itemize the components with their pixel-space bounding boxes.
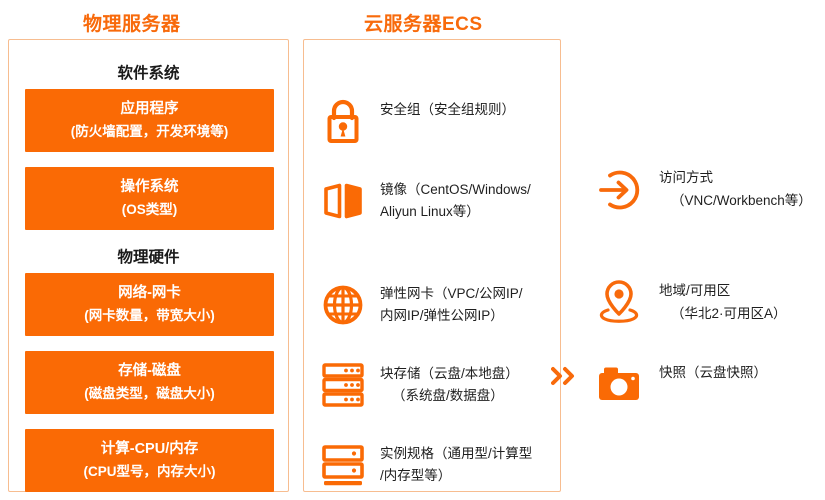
access-method-line1: 访问方式 [659,167,812,190]
ecs-item-instance-spec-text: 实例规格（通用型/计算型 /内存型等） [380,440,532,488]
access-method-line2: （VNC/Workbench等） [659,190,812,213]
right-item-region-text: 地域/可用区 （华北2·可用区A） [659,278,787,326]
globe-icon [320,280,366,330]
storage-icon [320,360,366,410]
section-heading-hardware: 物理硬件 [9,245,288,267]
snapshot-line1: 快照（云盘快照） [659,362,767,385]
lock-icon [320,96,366,146]
box-network-title: 网络-网卡 [118,286,181,302]
box-os-detail: (OS类型) [122,203,178,218]
ecs-item-security-group-text: 安全组（安全组规则） [380,96,515,121]
ecs-instance-spec-line1: 实例规格（通用型/计算型 [380,443,532,465]
right-item-access-method-text: 访问方式 （VNC/Workbench等） [659,165,812,213]
box-compute: 计算-CPU/内存 (CPU型号，内存大小) [25,429,274,492]
ecs-panel: 安全组（安全组规则） 镜像（CentOS/Windows/ Aliyun Lin… [303,39,561,492]
region-line1: 地域/可用区 [659,280,787,303]
right-item-snapshot-text: 快照（云盘快照） [659,360,767,385]
ecs-title: 云服务器ECS [364,9,483,36]
ecs-nic-line1: 弹性网卡（VPC/公网IP/ [380,283,523,305]
box-application-detail: (防火墙配置，开发环境等) [71,125,229,140]
ecs-item-image: 镜像（CentOS/Windows/ Aliyun Linux等） [320,176,556,226]
ecs-item-elastic-nic: 弹性网卡（VPC/公网IP/ 内网IP/弹性公网IP） [320,280,556,330]
box-compute-title: 计算-CPU/内存 [101,442,198,458]
ecs-item-security-group: 安全组（安全组规则） [320,96,556,146]
section-heading-software: 软件系统 [9,61,288,83]
ecs-item-image-text: 镜像（CentOS/Windows/ Aliyun Linux等） [380,176,531,224]
physical-server-panel: 软件系统 应用程序 (防火墙配置，开发环境等) 操作系统 (OS类型) 物理硬件… [8,39,289,492]
ecs-nic-line2: 内网IP/弹性公网IP） [380,305,523,327]
box-compute-detail: (CPU型号，内存大小) [84,465,216,480]
ecs-image-line2: Aliyun Linux等） [380,201,531,223]
ecs-item-instance-spec: 实例规格（通用型/计算型 /内存型等） [320,440,556,490]
ecs-item-block-storage: 块存储（云盘/本地盘） （系统盘/数据盘） [320,360,556,410]
ecs-item-elastic-nic-text: 弹性网卡（VPC/公网IP/ 内网IP/弹性公网IP） [380,280,523,328]
box-os: 操作系统 (OS类型) [25,167,274,230]
right-item-region: 地域/可用区 （华北2·可用区A） [595,278,787,328]
physical-server-title: 物理服务器 [83,9,181,36]
box-storage: 存储-磁盘 (磁盘类型，磁盘大小) [25,351,274,414]
image-icon [320,176,366,226]
right-item-snapshot: 快照（云盘快照） [595,360,767,410]
region-line2: （华北2·可用区A） [659,303,787,326]
box-application-title: 应用程序 [121,102,179,118]
login-arrow-icon [595,165,643,215]
right-item-access-method: 访问方式 （VNC/Workbench等） [595,165,812,215]
box-os-title: 操作系统 [121,180,179,196]
ecs-item-block-storage-text: 块存储（云盘/本地盘） （系统盘/数据盘） [380,360,519,408]
box-storage-title: 存储-磁盘 [118,364,181,380]
ecs-block-storage-line1: 块存储（云盘/本地盘） [380,363,519,385]
location-pin-icon [595,278,643,328]
chevron-separator [551,366,577,386]
ecs-block-storage-line2: （系统盘/数据盘） [380,385,519,407]
ecs-instance-spec-line2: /内存型等） [380,465,532,487]
box-application: 应用程序 (防火墙配置，开发环境等) [25,89,274,152]
server-icon [320,440,366,490]
diagram-canvas: 物理服务器 云服务器ECS 软件系统 应用程序 (防火墙配置，开发环境等) 操作… [0,0,825,500]
box-network-detail: (网卡数量，带宽大小) [84,309,215,324]
camera-icon [595,360,643,410]
ecs-image-line1: 镜像（CentOS/Windows/ [380,179,531,201]
box-storage-detail: (磁盘类型，磁盘大小) [84,387,215,402]
ecs-security-group-line1: 安全组（安全组规则） [380,99,515,121]
box-network: 网络-网卡 (网卡数量，带宽大小) [25,273,274,336]
